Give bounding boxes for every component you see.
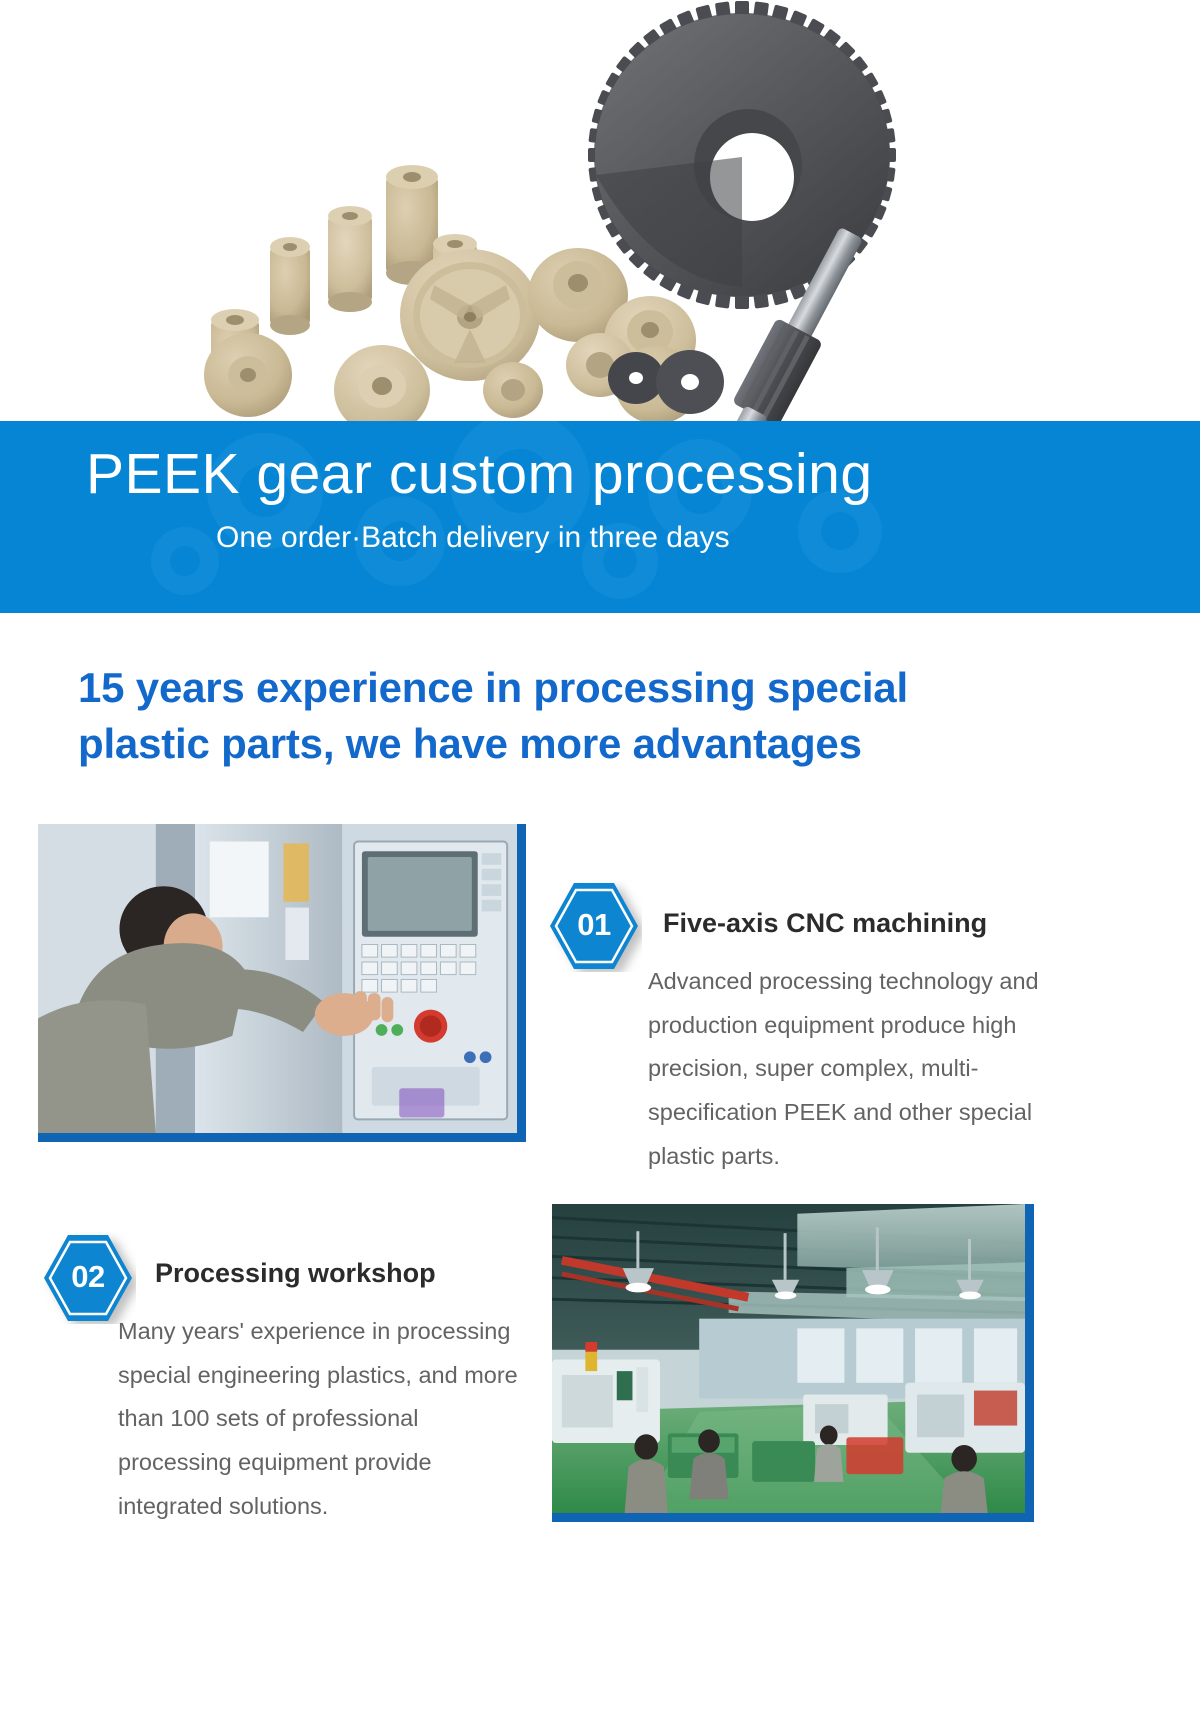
headline-line-1: 15 years experience in processing specia… bbox=[78, 660, 1088, 716]
cnc-machine-photo bbox=[38, 824, 526, 1142]
headline-line-2: plastic parts, we have more advantages bbox=[78, 716, 1088, 772]
feature-badge-01: 01 bbox=[546, 880, 642, 972]
feature-body-02: Many years' experience in processing spe… bbox=[118, 1310, 538, 1529]
workshop-illustration bbox=[552, 1204, 1025, 1513]
section-headline: 15 years experience in processing specia… bbox=[78, 660, 1088, 772]
gears-illustration bbox=[0, 0, 1200, 470]
hero-banner: PEEK gear custom processing One order·Ba… bbox=[0, 421, 1200, 613]
workshop-photo bbox=[552, 1204, 1034, 1522]
banner-title: PEEK gear custom processing bbox=[0, 443, 1200, 507]
product-landing-page: PEEK gear custom processing One order·Ba… bbox=[0, 0, 1200, 1732]
feature-badge-number-01: 01 bbox=[546, 880, 642, 972]
banner-subtitle: One order·Batch delivery in three days bbox=[0, 507, 1200, 555]
feature-title-02: Processing workshop bbox=[155, 1258, 436, 1289]
feature-title-01: Five-axis CNC machining bbox=[663, 908, 987, 939]
feature-body-01: Advanced processing technology and produ… bbox=[648, 960, 1100, 1179]
cnc-operator-illustration bbox=[38, 824, 517, 1133]
hero-product-image bbox=[0, 0, 1200, 470]
